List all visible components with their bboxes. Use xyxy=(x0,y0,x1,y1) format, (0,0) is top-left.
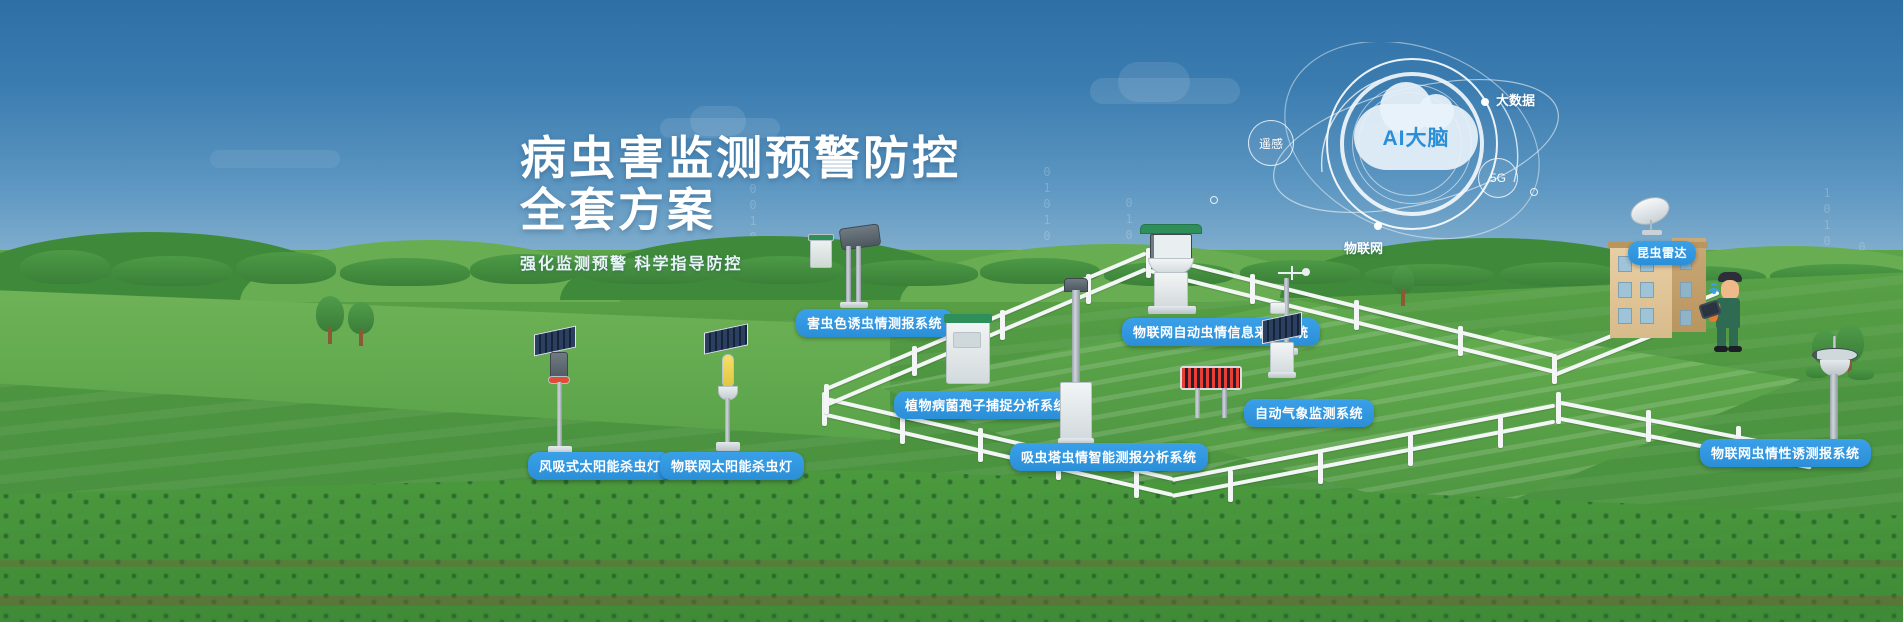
cabinet-display xyxy=(953,332,981,348)
wind-vane-icon xyxy=(1278,266,1308,280)
fence-post xyxy=(1646,410,1651,442)
label-wind-suction-solar-insect-lamp[interactable]: 风吸式太阳能杀虫灯 xyxy=(528,452,672,480)
weather-cabinet-base xyxy=(1268,372,1296,378)
bush-shape xyxy=(340,258,470,286)
node-iot-dot xyxy=(1374,222,1382,230)
solar-panel xyxy=(1262,312,1302,345)
radar-dish-base xyxy=(1642,230,1662,235)
fence-post xyxy=(1556,392,1561,424)
node-remote-sensing-label: 遥感 xyxy=(1259,135,1283,152)
led-board-post xyxy=(1222,388,1227,418)
lamp-pole xyxy=(725,398,730,446)
lure-antenna xyxy=(1833,336,1836,348)
suction-tower-cabinet xyxy=(1060,382,1092,440)
page-title: 病虫害监测预警防控 全套方案 xyxy=(520,132,961,236)
weather-control-cabinet xyxy=(1270,342,1294,374)
cloud-shape xyxy=(210,150,340,168)
device-weather-solar-panel-unit[interactable] xyxy=(1262,316,1322,388)
ai-core-label: AI大脑 xyxy=(1383,122,1450,152)
suction-tower-shaft xyxy=(1072,290,1080,388)
bush-shape xyxy=(112,256,232,286)
spore-cabinet xyxy=(946,320,990,384)
ai-core-cloud: AI大脑 xyxy=(1354,104,1478,170)
bush-shape xyxy=(20,250,110,284)
label-insect-radar[interactable]: 昆虫雷达 xyxy=(1628,241,1696,265)
fence-post xyxy=(824,384,829,414)
building-window xyxy=(1680,310,1692,326)
node-iot-label: 物联网 xyxy=(1344,238,1383,257)
orbit-end-dot xyxy=(1210,196,1218,204)
hero-text-block: 病虫害监测预警防控 全套方案 强化监测预警 科学指导防控 xyxy=(520,132,961,274)
collector-canopy xyxy=(1140,224,1202,234)
page-title-line-1: 病虫害监测预警防控 xyxy=(520,132,961,184)
fence-post xyxy=(1498,416,1503,448)
label-pest-color-lure-reporting-system[interactable]: 害虫色诱虫情测报系统 xyxy=(796,309,953,337)
infographic-canvas: 01001010110100101 0101001011010 01001011… xyxy=(0,0,1903,622)
fence-post xyxy=(1354,300,1359,330)
led-display-board xyxy=(1180,366,1242,390)
node-5g[interactable]: 5G xyxy=(1478,158,1518,198)
page-title-line-2: 全套方案 xyxy=(520,184,716,236)
tree xyxy=(316,296,344,344)
bush-shape xyxy=(236,252,336,284)
building-window xyxy=(1618,308,1632,324)
node-remote-sensing[interactable]: 遥感 xyxy=(1248,120,1294,166)
tree xyxy=(348,302,374,346)
label-iot-pheromone-lure-reporting-system[interactable]: 物联网虫情性诱测报系统 xyxy=(1700,439,1871,467)
orbit-end-dot xyxy=(1530,188,1538,196)
fence-post xyxy=(1458,326,1463,356)
collector-lamp-cage xyxy=(1150,234,1192,260)
building-window xyxy=(1640,282,1654,298)
wifi-signal-icon xyxy=(1706,278,1728,296)
weather-sensor-box xyxy=(1270,302,1286,314)
building-window xyxy=(1618,282,1632,298)
soil-strip xyxy=(0,560,1903,567)
device-suction-tower-intelligent-reporting-analysis-system[interactable] xyxy=(1058,278,1102,458)
device-plant-pathogen-spore-capture-analysis-system[interactable] xyxy=(946,312,1002,392)
fence-post xyxy=(912,346,917,376)
fence-post xyxy=(1250,274,1255,304)
lamp-pole xyxy=(557,382,562,448)
fence-post xyxy=(1552,354,1557,384)
led-board-post xyxy=(1195,388,1200,418)
worker-leg xyxy=(1717,326,1726,348)
bush-shape xyxy=(1364,264,1494,286)
collector-body xyxy=(1154,272,1188,308)
solar-panel xyxy=(704,323,748,354)
device-iot-solar-insect-lamp[interactable] xyxy=(700,328,770,452)
lamp-base xyxy=(716,442,740,451)
fence-post xyxy=(1408,434,1413,466)
ai-hub-diagram: AI大脑 遥感 5G 大数据 物联网 xyxy=(1262,42,1562,242)
node-big-data-dot xyxy=(1481,98,1489,106)
label-iot-solar-insect-lamp[interactable]: 物联网太阳能杀虫灯 xyxy=(660,452,804,480)
cabinet-top xyxy=(944,314,992,323)
fence-post xyxy=(978,428,983,462)
tree xyxy=(1392,266,1414,306)
node-big-data-label: 大数据 xyxy=(1496,90,1535,109)
device-iot-automatic-pest-info-collection-system[interactable] xyxy=(1136,224,1222,316)
label-automatic-weather-monitoring-system[interactable]: 自动气象监测系统 xyxy=(1244,399,1374,427)
page-subtitle: 强化监测预警 科学指导防控 xyxy=(520,250,961,274)
device-wind-suction-solar-insect-lamp[interactable] xyxy=(528,330,598,458)
label-plant-pathogen-spore-capture-analysis-system[interactable]: 植物病菌孢子捕捉分析系统 xyxy=(894,391,1078,419)
building-window xyxy=(1680,282,1692,298)
bush-shape xyxy=(1500,262,1620,286)
worker-shoe xyxy=(1728,346,1742,352)
worker-shoe xyxy=(1714,346,1728,352)
node-5g-label: 5G xyxy=(1490,171,1506,185)
building-window xyxy=(1640,308,1654,324)
radar-dish-icon xyxy=(1624,198,1680,240)
worker-leg xyxy=(1729,326,1738,348)
lamp-tube xyxy=(722,354,734,388)
label-suction-tower-intelligent-reporting-analysis-system[interactable]: 吸虫塔虫情智能测报分析系统 xyxy=(1010,443,1208,471)
led-pixels xyxy=(1182,368,1240,388)
fence-post xyxy=(1228,470,1233,502)
soil-strip xyxy=(0,596,1903,606)
collector-base xyxy=(1148,306,1196,314)
cloud-shape xyxy=(1118,62,1190,102)
mount-base xyxy=(840,302,868,308)
fence-post xyxy=(1318,452,1323,484)
